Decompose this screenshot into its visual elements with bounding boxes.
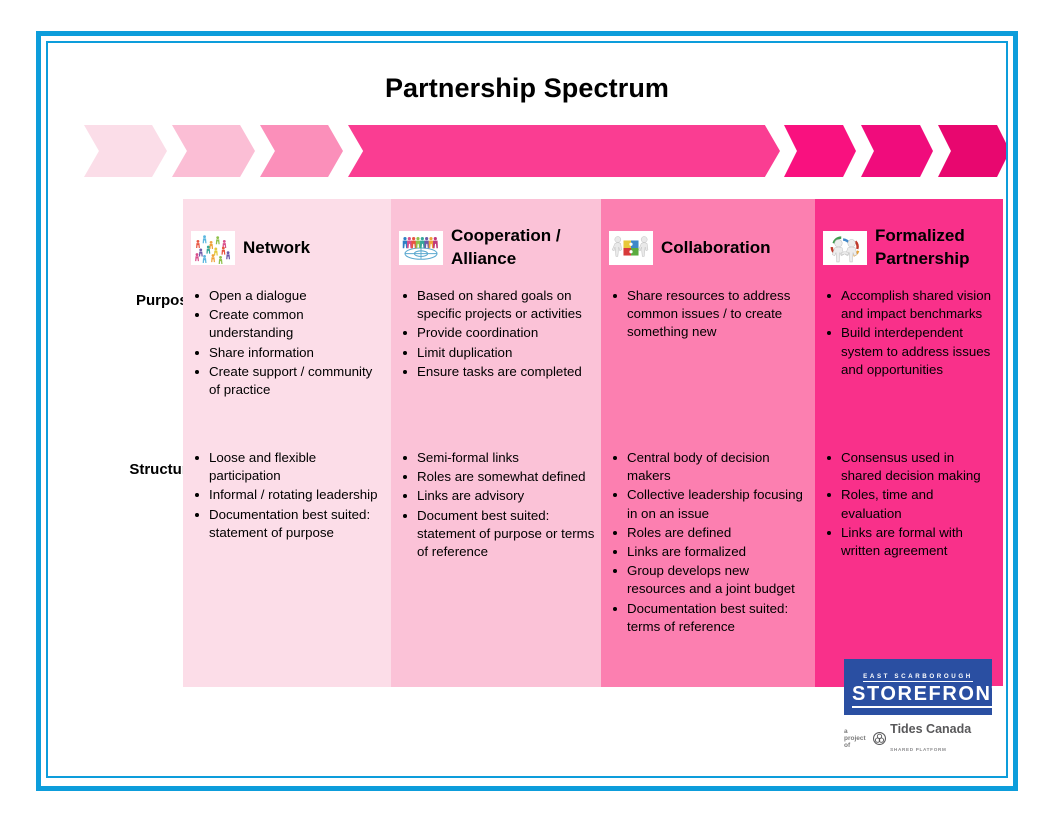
slide-frame: Partnership Spectrum Purpose Structure N…	[36, 31, 1018, 791]
list-item: Share resources to address common issues…	[627, 287, 809, 342]
formalized-partnership-structure-block: Consensus used in shared decision making…	[819, 449, 997, 560]
storefront-logo-badge: EAST SCARBOROUGH STOREFRONT	[844, 659, 992, 715]
spectrum-chevron-4	[348, 125, 780, 177]
list-item: Roles, time and evaluation	[841, 486, 997, 522]
column-header-cooperation-alliance: Cooperation / Alliance	[391, 199, 601, 287]
list-item: Documentation best suited: terms of refe…	[627, 600, 809, 636]
list-item: Links are formalized	[627, 543, 809, 561]
list-item: Ensure tasks are completed	[417, 363, 595, 381]
cooperation-alliance-structure-list: Semi-formal linksRoles are somewhat defi…	[395, 449, 595, 561]
cooperation-alliance-purpose-list: Based on shared goals on specific projec…	[395, 287, 595, 381]
logo-eyebrow-text: EAST SCARBOROUGH	[863, 673, 973, 682]
row-label-structure: Structure	[76, 461, 196, 478]
list-item: Links are advisory	[417, 487, 595, 505]
list-item: Consensus used in shared decision making	[841, 449, 997, 485]
list-item: Roles are defined	[627, 524, 809, 542]
crowd-of-people-icon	[191, 231, 235, 265]
column-header-collaboration: Collaboration	[601, 199, 815, 287]
network-structure-list: Loose and flexible participationInformal…	[187, 449, 385, 542]
partnership-spectrum-arrow-banner	[84, 125, 992, 177]
list-item: Build interdependent system to address i…	[841, 324, 997, 379]
network-purpose-block: Open a dialogueCreate common understandi…	[187, 287, 385, 449]
formalized-partnership-purpose-block: Accomplish shared vision and impact benc…	[819, 287, 997, 449]
column-body-network: Open a dialogueCreate common understandi…	[183, 287, 391, 542]
spectrum-column-cooperation-alliance: Cooperation / AllianceBased on shared go…	[391, 199, 601, 687]
column-header-formalized-partnership: Formalized Partnership	[815, 199, 1003, 287]
list-item: Roles are somewhat defined	[417, 468, 595, 486]
tides-canada-credit: a project of Tides Canada SHARED PLATFOR…	[844, 720, 992, 756]
list-item: Create common understanding	[209, 306, 385, 342]
formalized-partnership-purpose-list: Accomplish shared vision and impact benc…	[819, 287, 997, 379]
tides-canada-name: Tides Canada	[890, 722, 971, 736]
list-item: Create support / community of practice	[209, 363, 385, 399]
column-body-cooperation-alliance: Based on shared goals on specific projec…	[391, 287, 601, 561]
cooperation-alliance-structure-block: Semi-formal linksRoles are somewhat defi…	[395, 449, 595, 561]
list-item: Based on shared goals on specific projec…	[417, 287, 595, 323]
spectrum-chevron-6	[861, 125, 933, 177]
storefront-logo-block: EAST SCARBOROUGH STOREFRONT a project of	[844, 659, 992, 756]
list-item: Share information	[209, 344, 385, 362]
list-item: Informal / rotating leadership	[209, 486, 385, 504]
column-title-formalized-partnership: Formalized Partnership	[875, 225, 995, 271]
slide-inner-border: Partnership Spectrum Purpose Structure N…	[46, 41, 1008, 778]
column-title-network: Network	[243, 237, 310, 260]
people-circle-globe-icon	[399, 231, 443, 265]
formalized-partnership-structure-list: Consensus used in shared decision making…	[819, 449, 997, 560]
tides-canada-name-wrap: Tides Canada SHARED PLATFORM	[890, 720, 992, 756]
network-purpose-list: Open a dialogueCreate common understandi…	[187, 287, 385, 399]
collaboration-purpose-block: Share resources to address common issues…	[605, 287, 809, 449]
tides-canada-subtitle: SHARED PLATFORM	[890, 747, 946, 752]
slide-canvas: Partnership Spectrum Purpose Structure N…	[48, 43, 1006, 776]
figures-handshake-icon	[823, 231, 867, 265]
list-item: Group develops new resources and a joint…	[627, 562, 809, 598]
spectrum-chevron-3	[260, 125, 343, 177]
list-item: Provide coordination	[417, 324, 595, 342]
spectrum-column-network: NetworkOpen a dialogueCreate common unde…	[183, 199, 391, 687]
collaboration-structure-block: Central body of decision makersCollectiv…	[605, 449, 809, 636]
list-item: Accomplish shared vision and impact benc…	[841, 287, 997, 323]
spectrum-column-formalized-partnership: Formalized PartnershipAccomplish shared …	[815, 199, 1003, 687]
spectrum-chevron-1	[84, 125, 167, 177]
project-of-label: a project of	[844, 728, 869, 749]
list-item: Open a dialogue	[209, 287, 385, 305]
column-title-cooperation-alliance: Cooperation / Alliance	[451, 225, 593, 271]
list-item: Loose and flexible participation	[209, 449, 385, 485]
figures-joining-puzzle-icon	[609, 231, 653, 265]
spectrum-chevron-7	[938, 125, 1006, 177]
column-body-collaboration: Share resources to address common issues…	[601, 287, 815, 636]
network-structure-block: Loose and flexible participationInformal…	[187, 449, 385, 542]
spectrum-chevron-2	[172, 125, 255, 177]
list-item: Limit duplication	[417, 344, 595, 362]
list-item: Collective leadership focusing in on an …	[627, 486, 809, 522]
tides-canada-knot-icon	[873, 732, 886, 745]
column-header-network: Network	[183, 199, 391, 287]
list-item: Links are formal with written agreement	[841, 524, 997, 560]
cooperation-alliance-purpose-block: Based on shared goals on specific projec…	[395, 287, 595, 449]
collaboration-structure-list: Central body of decision makersCollectiv…	[605, 449, 809, 636]
column-body-formalized-partnership: Accomplish shared vision and impact benc…	[815, 287, 1003, 560]
row-label-purpose: Purpose	[76, 292, 196, 309]
spectrum-column-collaboration: CollaborationShare resources to address …	[601, 199, 815, 687]
list-item: Documentation best suited: statement of …	[209, 506, 385, 542]
collaboration-purpose-list: Share resources to address common issues…	[605, 287, 809, 342]
page-title: Partnership Spectrum	[48, 73, 1006, 104]
list-item: Document best suited: statement of purpo…	[417, 507, 595, 562]
list-item: Semi-formal links	[417, 449, 595, 467]
logo-wordmark: STOREFRONT	[852, 684, 1005, 708]
list-item: Central body of decision makers	[627, 449, 809, 485]
spectrum-chevron-5	[784, 125, 856, 177]
partnership-spectrum-matrix: NetworkOpen a dialogueCreate common unde…	[183, 199, 1003, 687]
column-title-collaboration: Collaboration	[661, 237, 771, 260]
